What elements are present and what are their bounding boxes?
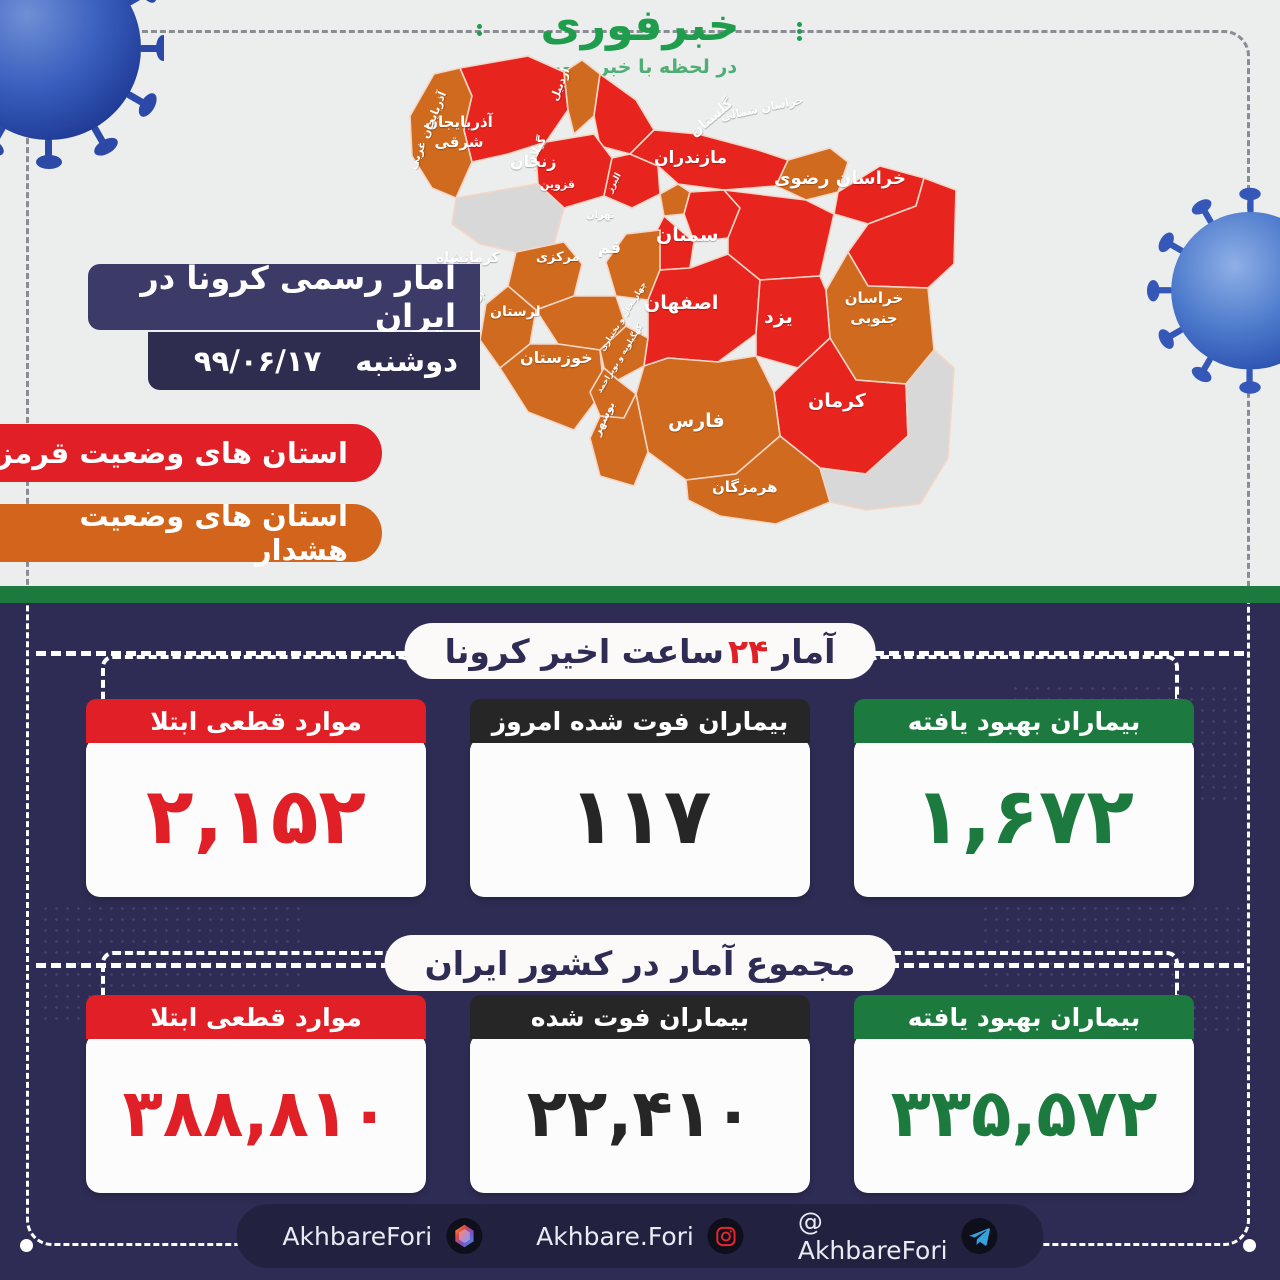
card-head-total-deaths: بیماران فوت شده <box>470 995 810 1039</box>
card-head-daily-recovered: بیماران بهبود یافته <box>854 699 1194 743</box>
card-value-daily-cases: ۲,۱۵۲ <box>146 772 366 862</box>
section-header-total: مجموع آمار در کشور ایران <box>385 935 896 991</box>
telegram-icon <box>962 1218 998 1254</box>
card-body-daily-recovered: ۱,۶۷۲ <box>854 737 1194 897</box>
card-label-daily-deaths: بیماران فوت شده امروز <box>492 707 789 736</box>
card-daily-cases: موارد قطعی ابتلا ۲,۱۵۲ <box>86 699 426 897</box>
daily-cards-row: بیماران بهبود یافته ۱,۶۷۲ بیماران فوت شد… <box>0 699 1280 897</box>
card-value-total-deaths: ۲۲,۴۱۰ <box>527 1075 754 1152</box>
instagram-icon <box>708 1218 744 1254</box>
header-line-left-total <box>36 963 436 968</box>
bracket-daily-cases <box>101 655 411 699</box>
bracket-total-cases <box>101 951 411 995</box>
daily-title-post: ساعت اخیر کرونا <box>445 632 724 671</box>
weekday-text: دوشنبه <box>355 344 458 378</box>
rubika-handle: AkhbareFori <box>282 1222 432 1251</box>
legend-orange-label: استان های وضعیت هشدار <box>0 499 348 567</box>
daily-title-number: ۲۴ <box>728 632 768 671</box>
instagram-handle: Akhbare.Fori <box>536 1222 694 1251</box>
bracket-total-recovered <box>869 951 1179 995</box>
map-section: خبرفوری در لحظه با خبر شوید <box>0 0 1280 586</box>
telegram-handle: @ AkhbareFori <box>798 1207 948 1265</box>
card-body-total-recovered: ۳۳۵,۵۷۲ <box>854 1033 1194 1193</box>
date-text: ۹۹/۰۶/۱۷ <box>194 344 321 378</box>
card-head-daily-deaths: بیماران فوت شده امروز <box>470 699 810 743</box>
header-line-right-total <box>844 963 1244 968</box>
card-head-total-cases: موارد قطعی ابتلا <box>86 995 426 1039</box>
card-total-recovered: بیماران بهبود یافته ۳۳۵,۵۷۲ <box>854 995 1194 1193</box>
legend-red: استان های وضعیت قرمز <box>0 424 382 482</box>
page-title-text: آمار رسمی کرونا در ایران <box>88 259 456 335</box>
card-head-daily-cases: موارد قطعی ابتلا <box>86 699 426 743</box>
card-head-total-recovered: بیماران بهبود یافته <box>854 995 1194 1039</box>
card-value-total-cases: ۳۸۸,۸۱۰ <box>123 1075 390 1152</box>
date-bar: دوشنبه ۹۹/۰۶/۱۷ <box>148 332 480 390</box>
virus-icon-left <box>0 0 164 170</box>
legend-orange: استان های وضعیت هشدار <box>0 504 382 562</box>
card-body-daily-deaths: ۱۱۷ <box>470 737 810 897</box>
card-body-daily-cases: ۲,۱۵۲ <box>86 737 426 897</box>
header-line-right-daily <box>844 651 1244 656</box>
header-line-left-daily <box>36 651 436 656</box>
card-label-daily-cases: موارد قطعی ابتلا <box>150 707 362 736</box>
frame-dot-right <box>1243 1239 1256 1252</box>
card-daily-recovered: بیماران بهبود یافته ۱,۶۷۲ <box>854 699 1194 897</box>
card-body-total-deaths: ۲۲,۴۱۰ <box>470 1033 810 1193</box>
card-value-daily-recovered: ۱,۶۷۲ <box>914 772 1134 862</box>
section-header-daily: آمار ۲۴ ساعت اخیر کرونا <box>405 623 876 679</box>
card-label-daily-recovered: بیماران بهبود یافته <box>908 707 1141 736</box>
page-title: آمار رسمی کرونا در ایران <box>88 264 480 330</box>
virus-icon-right <box>1145 185 1280 400</box>
legend-red-label: استان های وضعیت قرمز <box>0 436 348 470</box>
card-total-cases: موارد قطعی ابتلا ۳۸۸,۸۱۰ <box>86 995 426 1193</box>
rubika-icon <box>446 1218 482 1254</box>
bracket-daily-recovered <box>869 655 1179 699</box>
total-cards-row: بیماران بهبود یافته ۳۳۵,۵۷۲ بیماران فوت … <box>0 995 1280 1193</box>
card-label-total-cases: موارد قطعی ابتلا <box>150 1003 362 1032</box>
daily-title-pre: آمار <box>772 632 835 671</box>
infographic-root: خبرفوری در لحظه با خبر شوید <box>0 0 1280 1280</box>
card-value-daily-deaths: ۱۱۷ <box>569 772 712 862</box>
card-body-total-cases: ۳۸۸,۸۱۰ <box>86 1033 426 1193</box>
stats-section: آمار ۲۴ ساعت اخیر کرونا بیماران بهبود یا… <box>0 603 1280 1280</box>
green-divider <box>0 586 1280 603</box>
card-value-total-recovered: ۳۳۵,۵۷۲ <box>891 1075 1158 1152</box>
card-daily-deaths: بیماران فوت شده امروز ۱۱۷ <box>470 699 810 897</box>
social-telegram[interactable]: @ AkhbareFori <box>798 1207 998 1265</box>
social-instagram[interactable]: Akhbare.Fori <box>536 1218 744 1254</box>
total-title-text: مجموع آمار در کشور ایران <box>425 944 856 983</box>
card-total-deaths: بیماران فوت شده ۲۲,۴۱۰ <box>470 995 810 1193</box>
frame-dot-left <box>20 1239 33 1252</box>
card-label-total-deaths: بیماران فوت شده <box>531 1003 749 1032</box>
card-label-total-recovered: بیماران بهبود یافته <box>908 1003 1141 1032</box>
social-rubika[interactable]: AkhbareFori <box>282 1218 482 1254</box>
social-footer: @ AkhbareFori Akhbare.Fori <box>236 1204 1043 1268</box>
